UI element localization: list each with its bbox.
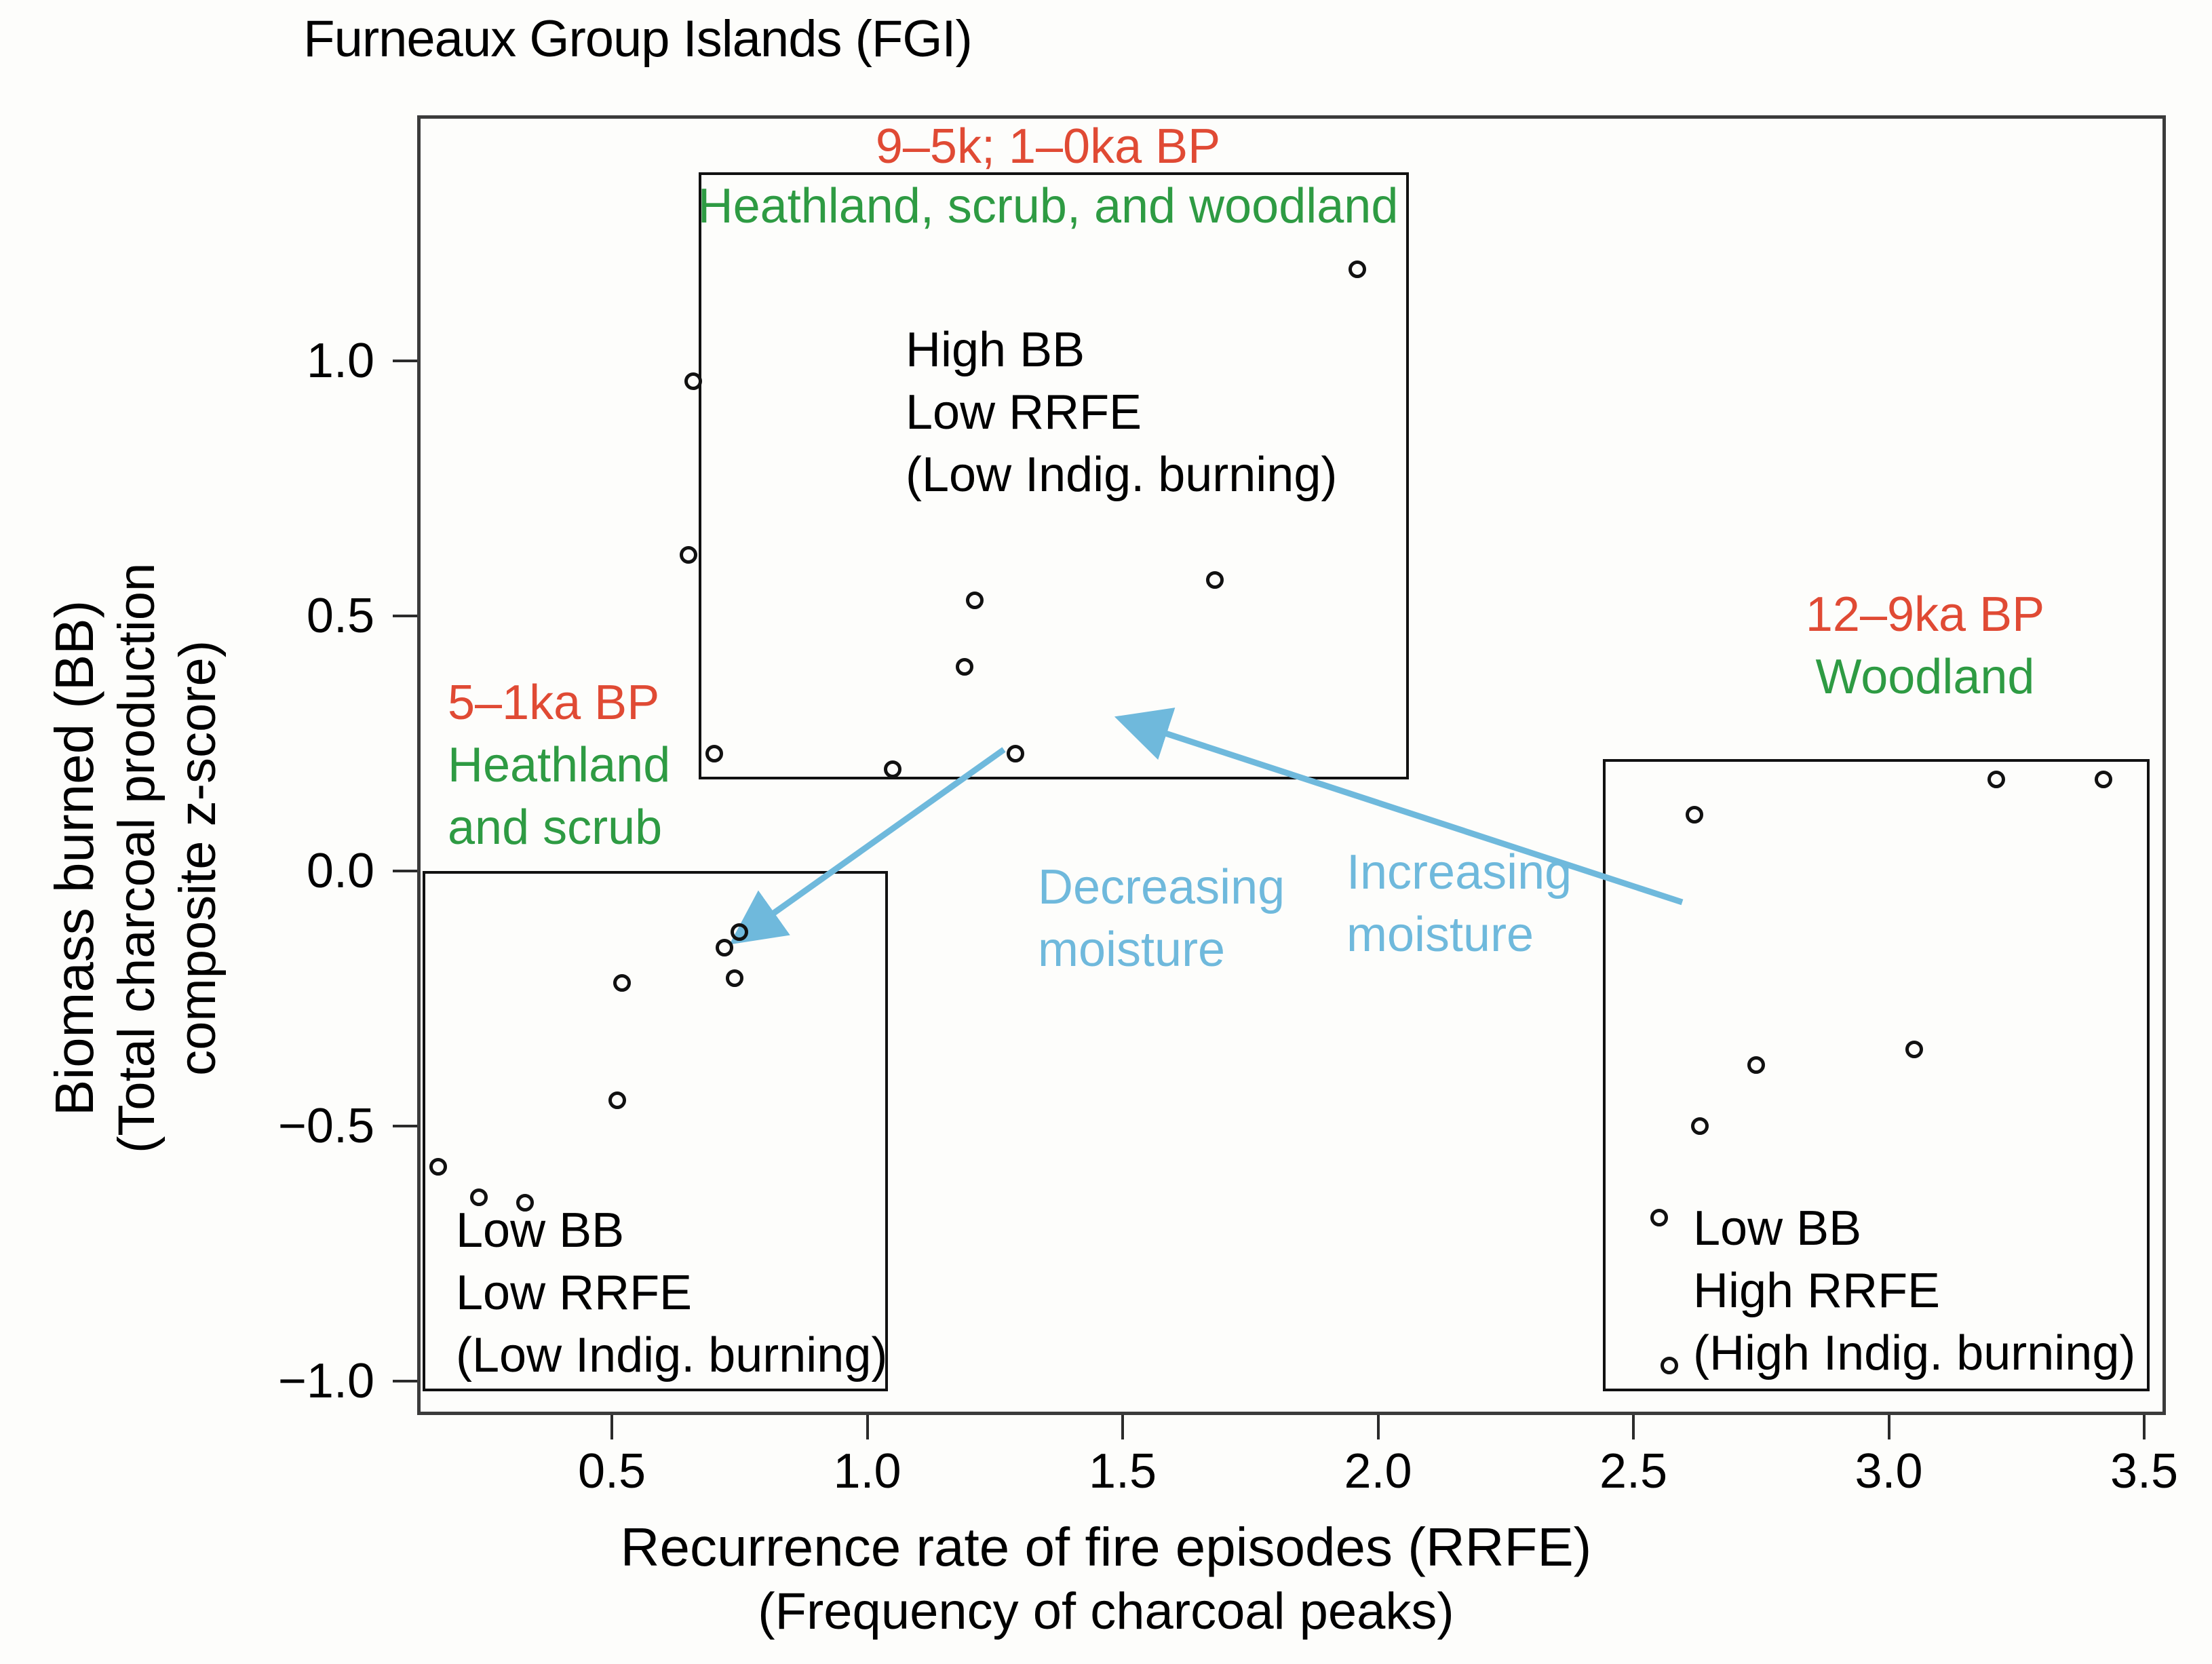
- decreasing-moisture-label-line2: moisture: [1038, 918, 1225, 982]
- data-point: [1691, 1117, 1709, 1135]
- x-tick-label: 3.0: [1855, 1444, 1922, 1499]
- left-period-label: 5–1ka BP: [448, 672, 659, 735]
- data-point: [516, 1194, 534, 1212]
- x-tick-label: 0.5: [578, 1444, 646, 1499]
- top-box-text-line1: High BB: [906, 319, 1085, 383]
- x-tick-label: 1.0: [833, 1444, 901, 1499]
- data-point: [429, 1158, 447, 1176]
- data-point: [726, 969, 743, 987]
- y-tick-mark: [393, 870, 417, 872]
- x-axis-title-line2: (Frequency of charcoal peaks): [0, 1581, 2212, 1644]
- top-vegetation-label: Heathland, scrub, and woodland: [698, 175, 1399, 239]
- data-point: [680, 546, 697, 564]
- x-tick-mark: [2143, 1415, 2146, 1439]
- data-point: [1206, 571, 1224, 589]
- y-tick-mark: [393, 1125, 417, 1127]
- data-point: [608, 1091, 626, 1109]
- x-tick-mark: [1377, 1415, 1380, 1439]
- y-axis-title-line2: (Total charcoal production: [107, 383, 168, 1333]
- increasing-moisture-label-line2: moisture: [1346, 904, 1534, 967]
- y-tick-label: 0.0: [307, 843, 374, 899]
- right-period-label: 12–9ka BP: [1806, 583, 2044, 647]
- data-point: [1686, 806, 1703, 824]
- data-point: [1905, 1041, 1923, 1058]
- decreasing-moisture-label-line1: Decreasing: [1038, 856, 1285, 920]
- x-tick-mark: [1888, 1415, 1890, 1439]
- data-point: [1747, 1056, 1765, 1074]
- y-tick-mark: [393, 360, 417, 362]
- data-point: [705, 745, 723, 762]
- x-axis-title: Recurrence rate of fire episodes (RRFE) …: [0, 1514, 2212, 1643]
- x-tick-mark: [1121, 1415, 1124, 1439]
- right-box-text-line3: (High Indig. burning): [1693, 1322, 2135, 1386]
- data-point: [956, 658, 973, 676]
- x-tick-label: 2.0: [1344, 1444, 1412, 1499]
- left-vegetation-line2: and scrub: [448, 796, 662, 860]
- x-axis-title-line1: Recurrence rate of fire episodes (RRFE): [0, 1514, 2212, 1581]
- x-tick-mark: [866, 1415, 869, 1439]
- top-box-text-line2: Low RRFE: [906, 381, 1142, 445]
- x-tick-mark: [610, 1415, 613, 1439]
- page-title: Furneaux Group Islands (FGI): [0, 9, 1275, 69]
- right-box-text-line2: High RRFE: [1693, 1260, 1940, 1323]
- left-box-text-line1: Low BB: [456, 1199, 624, 1263]
- y-axis-title-line1: Biomass burned (BB): [43, 383, 106, 1333]
- data-point: [731, 923, 748, 941]
- y-axis-title: Biomass burned (BB) (Total charcoal prod…: [43, 383, 229, 1333]
- data-point: [2095, 771, 2112, 788]
- y-tick-label: 1.0: [307, 333, 374, 389]
- data-point: [716, 939, 733, 956]
- data-point: [1661, 1357, 1678, 1374]
- y-tick-label: 0.5: [307, 588, 374, 644]
- right-box-text-line1: Low BB: [1693, 1197, 1861, 1261]
- top-period-label: 9–5k; 1–0ka BP: [876, 115, 1220, 179]
- chart-canvas: Furneaux Group Islands (FGI) 9–5k; 1–0ka…: [0, 0, 2212, 1664]
- data-point: [1007, 745, 1024, 762]
- x-tick-label: 1.5: [1089, 1444, 1157, 1499]
- y-tick-label: −0.5: [278, 1098, 374, 1154]
- x-tick-mark: [1632, 1415, 1635, 1439]
- x-tick-label: 2.5: [1599, 1444, 1667, 1499]
- increasing-moisture-label-line1: Increasing: [1346, 841, 1572, 905]
- right-vegetation-label: Woodland: [1816, 646, 2035, 710]
- y-tick-mark: [393, 1380, 417, 1382]
- left-box-text-line2: Low RRFE: [456, 1262, 692, 1326]
- left-box-text-line3: (Low Indig. burning): [456, 1324, 887, 1388]
- x-tick-label: 3.5: [2110, 1444, 2178, 1499]
- data-point: [1348, 260, 1366, 278]
- y-tick-mark: [393, 615, 417, 617]
- data-point: [884, 760, 901, 778]
- y-axis-title-line3: composite z-score): [168, 383, 229, 1333]
- data-point: [684, 372, 702, 390]
- data-point: [470, 1188, 488, 1206]
- data-point: [1987, 771, 2005, 788]
- left-vegetation-line1: Heathland: [448, 734, 670, 798]
- y-tick-label: −1.0: [278, 1353, 374, 1409]
- data-point: [966, 592, 984, 609]
- data-point: [1650, 1209, 1668, 1226]
- top-box-text-line3: (Low Indig. burning): [906, 444, 1337, 507]
- data-point: [613, 974, 631, 992]
